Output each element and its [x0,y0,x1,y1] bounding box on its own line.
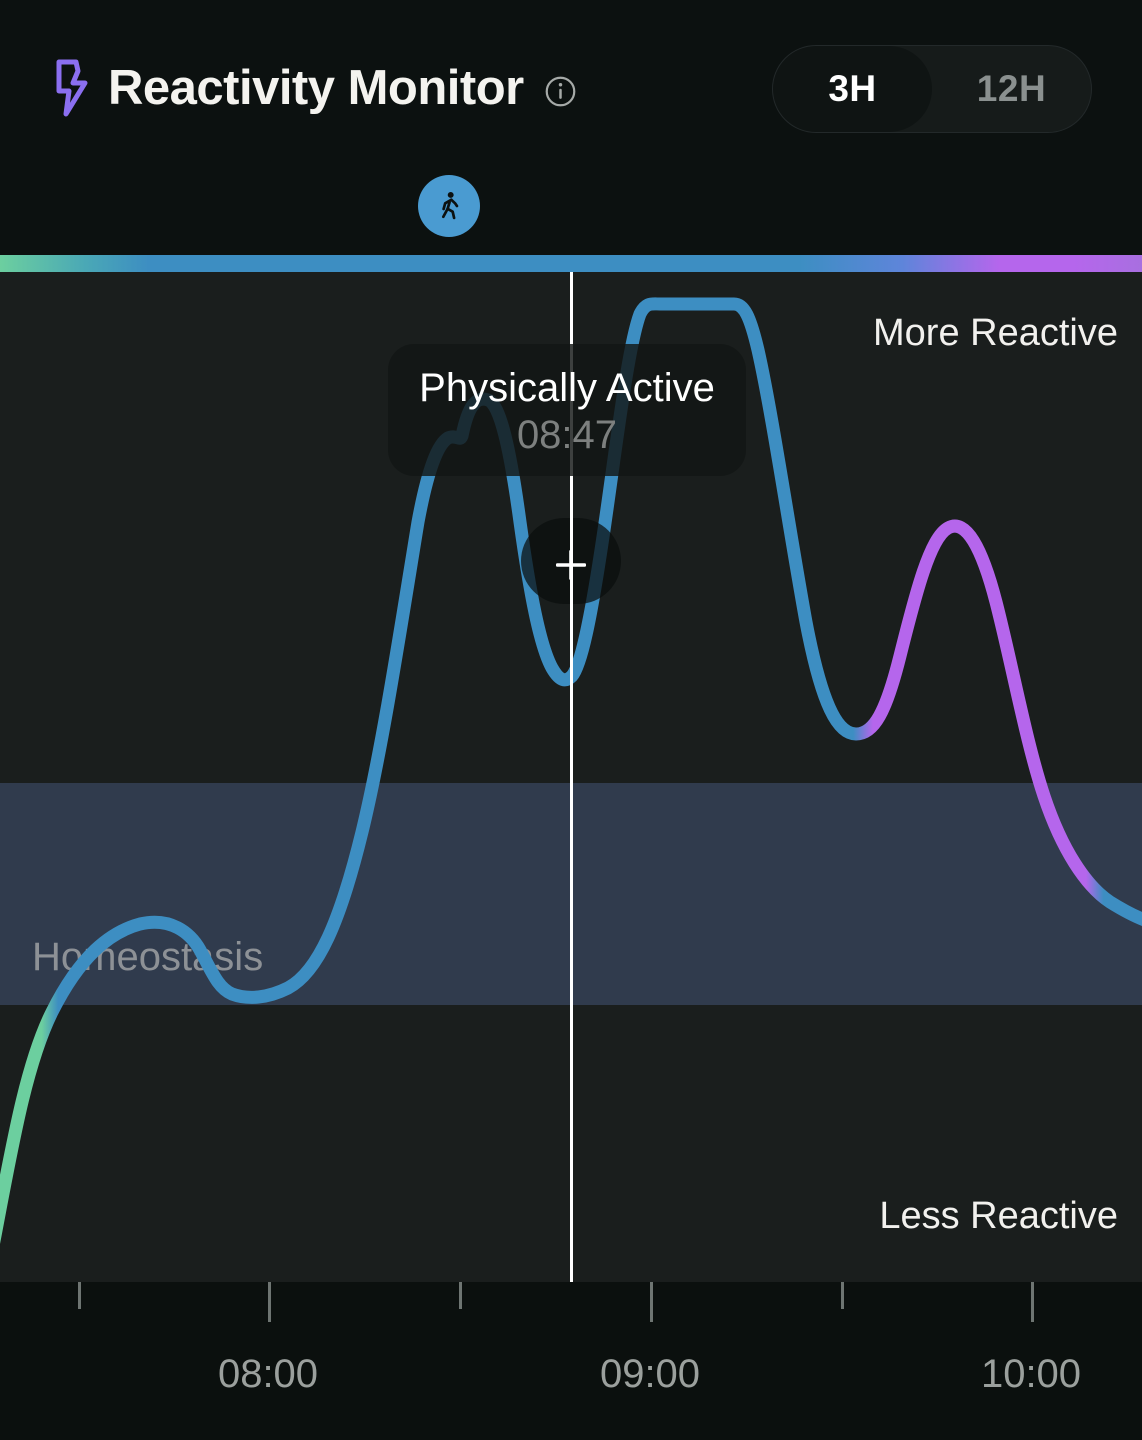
axis-tick-label: 08:00 [218,1352,318,1397]
time-range-toggle[interactable]: 3H 12H [772,45,1092,133]
more-reactive-label: More Reactive [873,312,1118,355]
info-circle-icon[interactable] [544,75,577,108]
time-axis: 08:00 09:00 10:00 [0,1282,1142,1440]
axis-tick [650,1282,653,1322]
axis-tick [841,1282,844,1309]
title-row: Reactivity Monitor [52,48,577,128]
reactivity-gradient-strip [0,255,1142,272]
axis-tick [1031,1282,1034,1322]
walking-activity-badge[interactable] [418,175,480,237]
tooltip-time: 08:47 [517,411,617,459]
app-header: Reactivity Monitor 3H 12H [0,0,1142,255]
page-title: Reactivity Monitor [108,64,524,113]
axis-tick [459,1282,462,1309]
cursor-tooltip: Physically Active 08:47 [388,344,746,476]
range-option-12h[interactable]: 12H [932,46,1091,132]
walking-person-icon [432,189,466,223]
lightning-bolt-icon [52,59,92,117]
reactivity-monitor-screen: Reactivity Monitor 3H 12H [0,0,1142,1440]
axis-tick-label: 09:00 [600,1352,700,1397]
reactivity-chart[interactable]: Homeostasis More Reactive Less Reactive [0,272,1142,1282]
axis-tick [268,1282,271,1322]
axis-tick [78,1282,81,1309]
range-option-3h[interactable]: 3H [773,46,932,132]
less-reactive-label: Less Reactive [879,1195,1118,1238]
tooltip-title: Physically Active [419,365,715,411]
axis-tick-label: 10:00 [981,1352,1081,1397]
